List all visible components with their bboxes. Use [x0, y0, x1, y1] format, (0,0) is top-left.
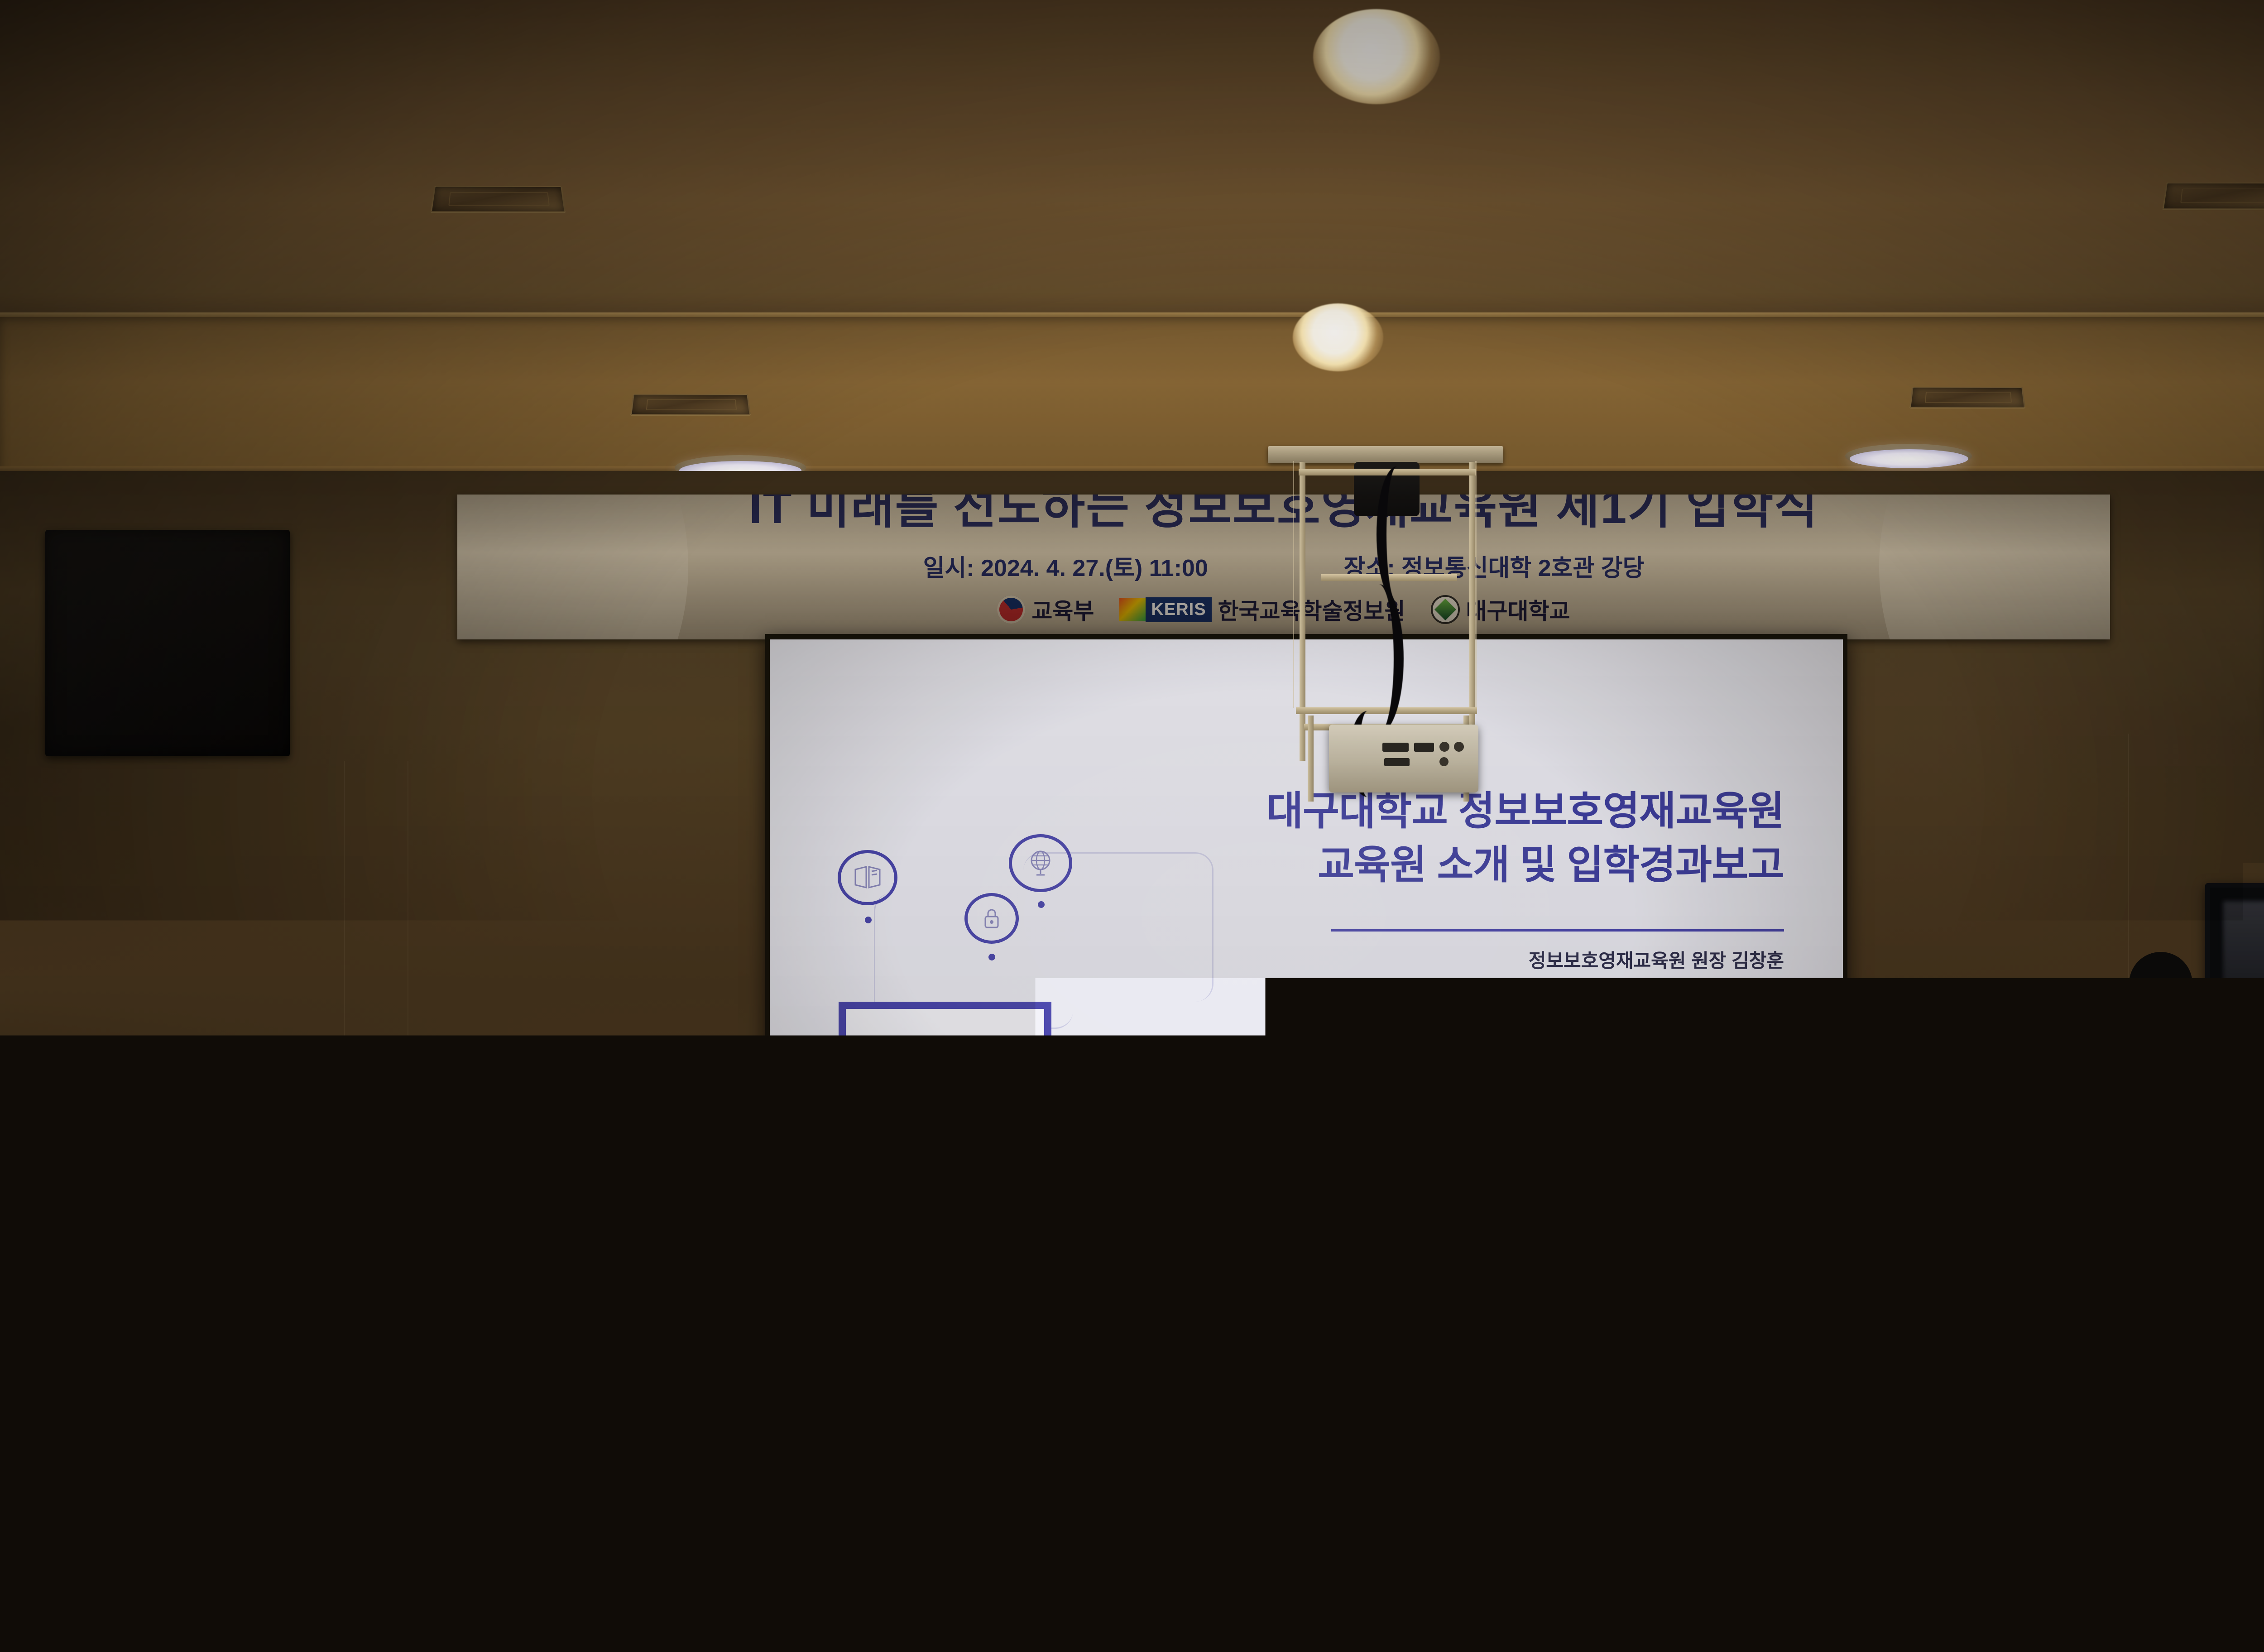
- auditorium-photo: IT 미래를 선도하는 정보보호영재교육원 제1기 입학식 일시: 2024. …: [0, 0, 2264, 1652]
- logo-moe-label: 교육부: [1031, 593, 1094, 626]
- wall-seam: [408, 761, 408, 1295]
- lock-icon: [964, 893, 1019, 944]
- ceiling-downlight: [1293, 303, 1383, 371]
- wall-seam: [344, 761, 345, 1295]
- shield-icon: [916, 1038, 974, 1106]
- keris-wordmark: KERIS: [1146, 597, 1211, 622]
- audience-head: [1847, 1417, 1956, 1608]
- auditorium-seat: [0, 1531, 163, 1652]
- presenter: [2065, 942, 2264, 1359]
- banner-headline: IT 미래를 선도하는 정보보호영재교육원 제1기 입학식: [457, 495, 2110, 537]
- projector-cable: [1354, 584, 1404, 734]
- audience-hair-tie: [453, 1327, 512, 1368]
- mouse-icon: [1029, 1205, 1055, 1247]
- daegu-university-emblem-icon: [1431, 595, 1460, 624]
- logo-daegu-university: 대구대학교: [1431, 593, 1570, 626]
- logo-moe: 교육부: [997, 593, 1094, 626]
- projector-ceiling-plate: [1268, 446, 1503, 463]
- laptop-icon: [839, 1002, 1051, 1142]
- slide-subtext: 정보보호영재교육원 원장 김창훈 2024. 4. 27: [1529, 946, 1784, 1004]
- banner-details-row: 일시: 2024. 4. 27.(토) 11:00 장소: 정보통신대학 2호관…: [457, 549, 2110, 583]
- slide-date: 2024. 4. 27: [1529, 975, 1784, 1004]
- slide-node-dot: [988, 954, 995, 960]
- projection-screen: 대구대학교 정보보호영재교육원 교육원 소개 및 입학경과보고 정보보호영재교육…: [770, 639, 1843, 1269]
- slide-node-dot: [865, 917, 872, 923]
- ceiling-striplight: [1850, 449, 1968, 468]
- slide-presenter: 정보보호영재교육원 원장 김창훈: [1529, 946, 1784, 975]
- projector-port: [1384, 758, 1410, 766]
- ceiling-vent: [630, 394, 751, 415]
- banner-date: 일시: 2024. 4. 27.(토) 11:00: [923, 549, 1208, 583]
- audience-head: [829, 1282, 919, 1408]
- audience-shoulders: [426, 1585, 607, 1652]
- book-icon: [838, 850, 897, 905]
- auditorium-seat: [168, 1327, 290, 1431]
- audience-shoulders: [1816, 1594, 1988, 1652]
- keris-logo-icon: KERIS: [1119, 597, 1211, 622]
- pointing-hand-cuff: [906, 1226, 947, 1264]
- presenter-glasses: [2136, 984, 2186, 996]
- slide-title: 대구대학교 정보보호영재교육원 교육원 소개 및 입학경과보고: [1266, 784, 1784, 892]
- wall-seam: [290, 1159, 607, 1160]
- korea-government-emblem-icon: [997, 595, 1025, 624]
- university-seal-icon: [19, 1164, 52, 1196]
- projector-cable: [1377, 466, 1417, 602]
- audience-shoulders: [2173, 1485, 2264, 1652]
- projector-rig-post: [1308, 716, 1314, 802]
- banner-logo-row: 교육부 KERIS 한국교육학술정보원 대구대학교: [457, 593, 2110, 626]
- slide-node-dot: [1038, 901, 1045, 908]
- audience-shoulders: [801, 1399, 951, 1549]
- ceiling-vent: [2163, 182, 2264, 210]
- projector-knob: [1454, 742, 1464, 752]
- projector-knob: [1439, 742, 1449, 752]
- audience-head: [272, 1354, 367, 1499]
- projector-suspension-wire: [1293, 461, 1294, 708]
- projector-rig-post: [1469, 462, 1475, 761]
- laptop-hinge: [906, 1139, 948, 1148]
- projector-port: [1382, 743, 1409, 752]
- wall-speaker-left: [45, 530, 290, 756]
- slide-divider: [1331, 929, 1784, 932]
- ceiling-vent: [1909, 387, 2025, 408]
- projector-knob: [1439, 757, 1449, 766]
- audience-shoulders: [240, 1490, 398, 1652]
- projector-port: [1414, 743, 1434, 752]
- audience-head: [462, 1417, 575, 1599]
- slide-title-line2: 교육원 소개 및 입학경과보고: [1266, 838, 1784, 892]
- pointing-hand-icon: [901, 1150, 955, 1239]
- projector: [1329, 725, 1478, 792]
- presenter-right-hand: [2155, 1010, 2181, 1035]
- globe-icon: [1009, 834, 1072, 892]
- audience-head: [1657, 1349, 1748, 1494]
- seat-armrest: [1472, 1481, 1503, 1652]
- audience-head: [1761, 1354, 1852, 1490]
- event-banner: IT 미래를 선도하는 정보보호영재교육원 제1기 입학식 일시: 2024. …: [457, 495, 2110, 639]
- audience-head: [1508, 1463, 1621, 1652]
- projector-rig-post: [1300, 462, 1305, 761]
- audience-head: [539, 1313, 636, 1449]
- logo-du-label: 대구대학교: [1466, 593, 1570, 626]
- projector-suspension-wire: [1475, 461, 1477, 708]
- ceiling-vent: [431, 186, 566, 212]
- auditorium-seat: [45, 1340, 163, 1445]
- ceiling-downlight: [1313, 9, 1440, 104]
- ceiling: [0, 0, 2264, 344]
